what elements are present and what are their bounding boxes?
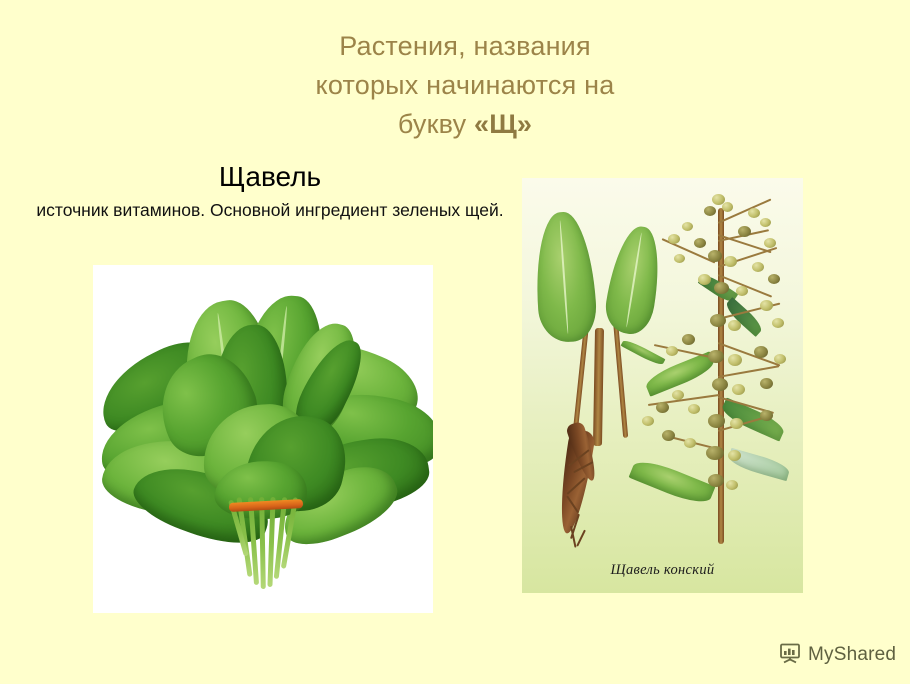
watermark-label: MyShared: [808, 644, 896, 666]
title-line-3: букву «Щ»: [255, 105, 675, 144]
title-highlight-letter: «Щ»: [474, 109, 532, 139]
watermark: MyShared: [778, 637, 896, 673]
petiole: [572, 326, 589, 438]
title-line-3-prefix: букву: [398, 109, 474, 139]
sorrel-bunch-photo: [93, 265, 433, 613]
illustration-leaf: [602, 223, 666, 337]
petiole: [613, 318, 628, 438]
subject-heading: Щавель: [35, 160, 505, 194]
title-line-1: Растения, названия: [255, 27, 675, 66]
title-line-2: которых начинаются на: [255, 66, 675, 105]
horse-sorrel-illustration: Щавель конский: [522, 178, 803, 593]
subject-description: источник витаминов. Основной ингредиент …: [35, 198, 505, 223]
illustration-caption: Щавель конский: [522, 562, 803, 579]
illustration-leaf: [532, 210, 599, 344]
main-petiole: [593, 328, 604, 446]
presentation-chart-icon: [778, 641, 802, 670]
page-title: Растения, названия которых начинаются на…: [255, 27, 675, 144]
illustration-leaf: [629, 455, 716, 509]
slide-canvas: Растения, названия которых начинаются на…: [0, 0, 910, 684]
illustration-leaf: [621, 338, 666, 368]
